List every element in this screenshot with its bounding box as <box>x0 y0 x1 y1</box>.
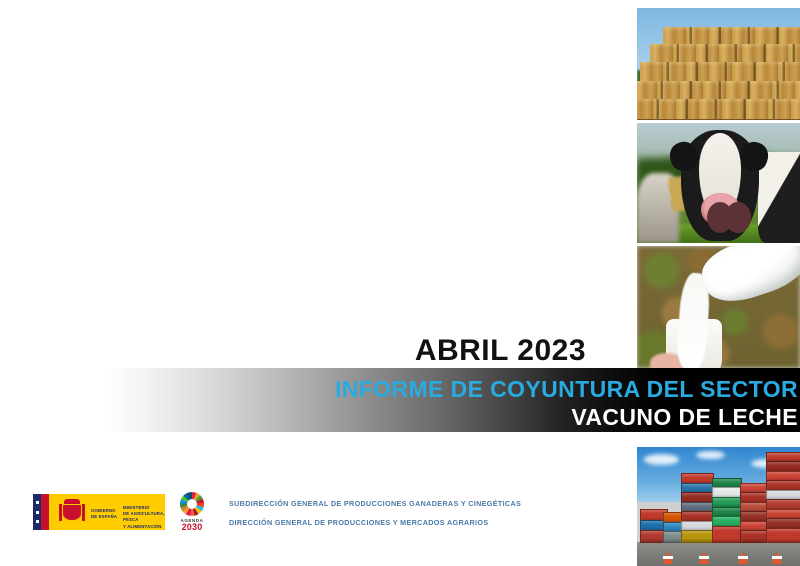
sdg-wheel-icon <box>180 492 204 516</box>
report-title-line-2: VACUNO DE LECHE <box>571 404 798 431</box>
publication-date: ABRIL 2023 <box>415 334 586 368</box>
flag-band <box>33 494 49 530</box>
cover-page: ABRIL 2023 INFORME DE COYUNTURA DEL SECT… <box>0 0 800 566</box>
report-title-line-1: INFORME DE COYUNTURA DEL SECTOR <box>335 376 798 403</box>
agenda-2030-logo: AGENDA 2030 <box>175 492 209 532</box>
issuing-department-block: SUBDIRECCIÓN GENERAL DE PRODUCCIONES GAN… <box>229 500 521 526</box>
dairy-cow-photo <box>637 123 800 243</box>
hay-bales-photo <box>637 8 800 120</box>
subdireccion-general-label: SUBDIRECCIÓN GENERAL DE PRODUCCIONES GAN… <box>229 500 521 507</box>
milk-pouring-photo <box>637 246 800 368</box>
gobierno-de-espana-logo: GOBIERNO DE ESPAÑA MINISTERIO DE AGRICUL… <box>33 494 165 530</box>
gobierno-label: GOBIERNO DE ESPAÑA <box>91 508 117 520</box>
footer: GOBIERNO DE ESPAÑA MINISTERIO DE AGRICUL… <box>0 488 637 548</box>
shipping-containers-photo <box>637 447 800 566</box>
agenda-year-label: 2030 <box>175 523 209 532</box>
direccion-general-label: DIRECCIÓN GENERAL DE PRODUCCIONES Y MERC… <box>229 519 521 526</box>
photo-strip <box>637 0 800 566</box>
ministerio-label: MINISTERIO DE AGRICULTURA, PESCA Y ALIME… <box>123 505 165 530</box>
coat-of-arms-icon <box>59 499 85 525</box>
